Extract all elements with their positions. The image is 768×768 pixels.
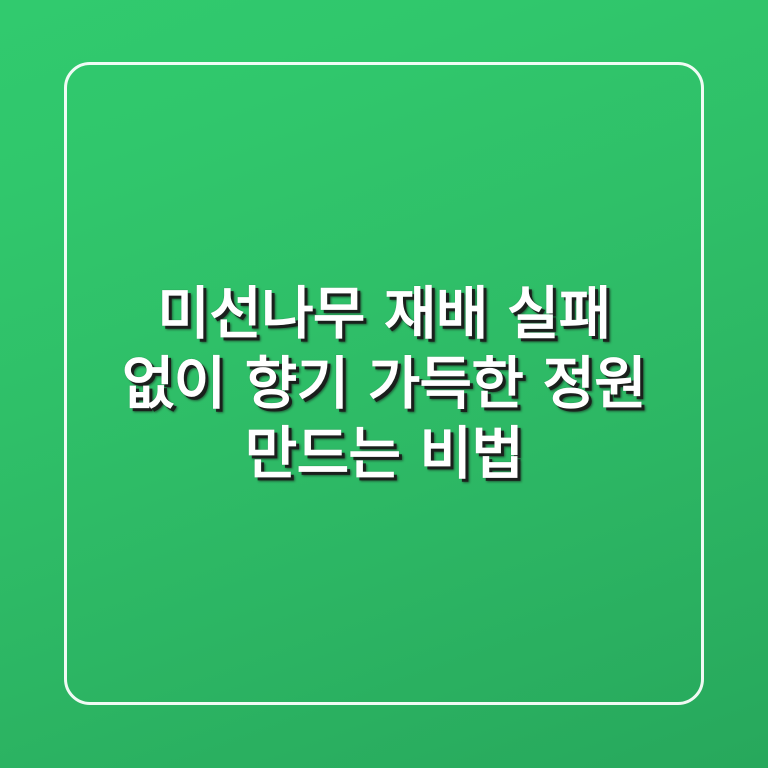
headline-line-2: 없이 향기 가득한 정원 bbox=[42, 349, 726, 419]
headline-line-1: 미선나무 재배 실패 bbox=[42, 279, 726, 349]
headline-block: 미선나무 재배 실패 없이 향기 가득한 정원 만드는 비법 bbox=[0, 279, 768, 489]
thumbnail-card: 미선나무 재배 실패 없이 향기 가득한 정원 만드는 비법 bbox=[0, 0, 768, 768]
headline-line-3: 만드는 비법 bbox=[42, 419, 726, 489]
